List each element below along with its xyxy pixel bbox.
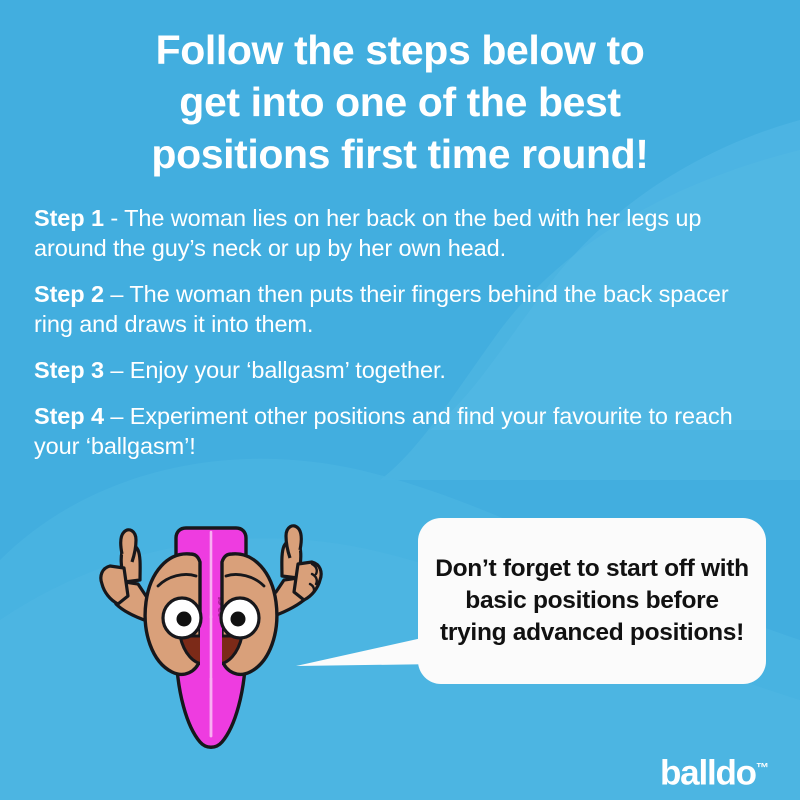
step-label-2: Step 2 — [34, 281, 104, 307]
step-text-4: Experiment other positions and find your… — [34, 403, 733, 459]
step-text-3: Enjoy your ‘ballgasm’ together. — [130, 357, 446, 383]
step-text-1: The woman lies on her back on the bed wi… — [34, 205, 701, 261]
headline-line-2: get into one of the best — [60, 76, 740, 128]
step-label-4: Step 4 — [34, 403, 104, 429]
mascot-eye-left — [163, 598, 201, 638]
step-separator-1: - — [104, 205, 124, 231]
step-label-1: Step 1 — [34, 205, 104, 231]
poster-canvas: Follow the steps below to get into one o… — [0, 0, 800, 800]
speech-bubble-text: Don’t forget to start off with basic pos… — [418, 553, 766, 649]
steps-list: Step 1 - The woman lies on her back on t… — [34, 203, 754, 461]
speech-bubble: Don’t forget to start off with basic pos… — [418, 518, 766, 684]
step-separator-3: – — [104, 357, 130, 383]
step-separator-4: – — [104, 403, 130, 429]
page-title: Follow the steps below to get into one o… — [60, 24, 740, 180]
brand-name: balldo — [660, 754, 756, 793]
step-item-4: Step 4 – Experiment other positions and … — [34, 401, 754, 461]
brand-logo: balldo™ — [660, 748, 769, 794]
step-label-3: Step 3 — [34, 357, 104, 383]
step-item-1: Step 1 - The woman lies on her back on t… — [34, 203, 754, 263]
balldo-mascot: balldo — [72, 518, 352, 763]
step-separator-2: – — [104, 281, 129, 307]
step-text-2: The woman then puts their fingers behind… — [34, 281, 729, 337]
headline-line-3: positions first time round! — [60, 128, 740, 180]
step-item-2: Step 2 – The woman then puts their finge… — [34, 279, 754, 339]
trademark-symbol: ™ — [756, 760, 769, 775]
mascot-eye-right — [221, 598, 259, 638]
headline-line-1: Follow the steps below to — [60, 24, 740, 76]
step-item-3: Step 3 – Enjoy your ‘ballgasm’ together. — [34, 355, 754, 385]
